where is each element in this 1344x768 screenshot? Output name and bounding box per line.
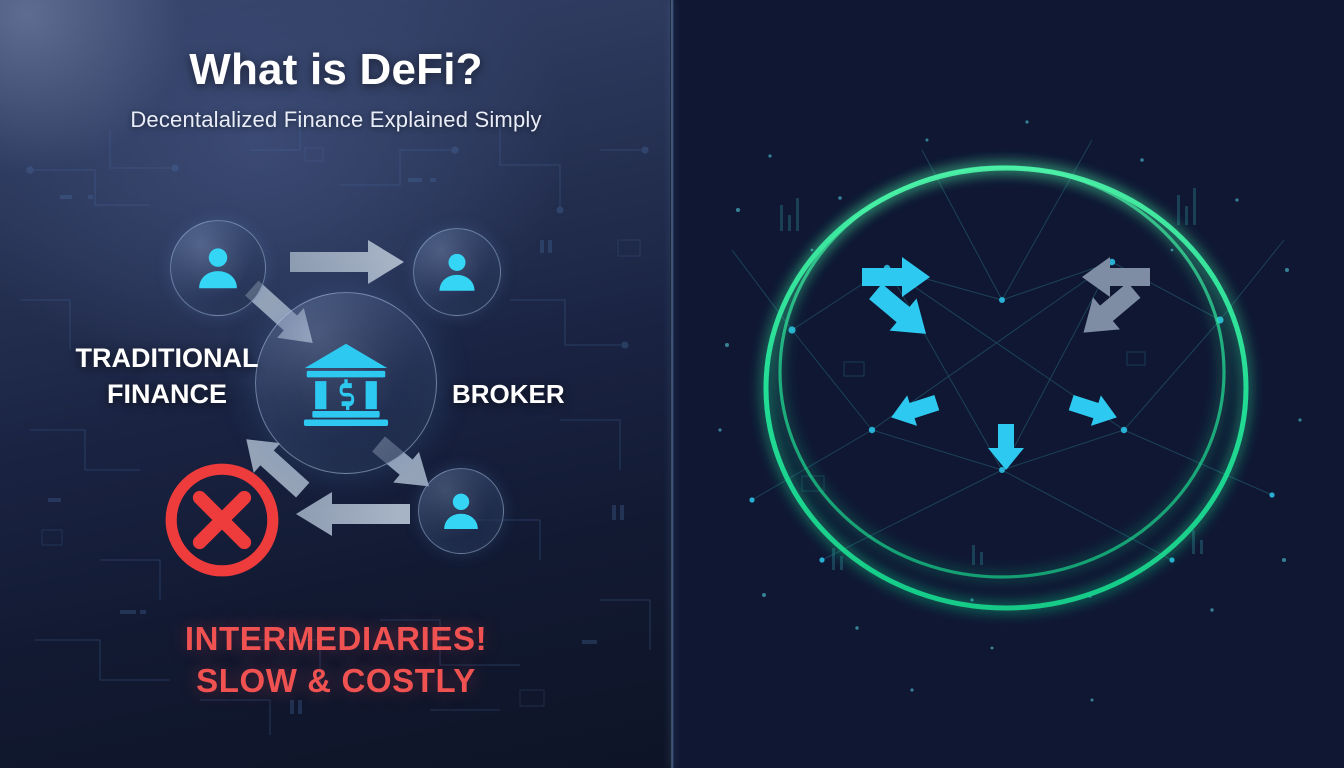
arrow-contract-to-yield	[1066, 387, 1122, 432]
traditional-callout-line1: INTERMEDIARIES!	[185, 620, 487, 657]
traditional-finance-label-line1: TRADITIONAL	[76, 343, 259, 373]
defi-infographic: What is DeFi? Decentalalized Finance Exp…	[0, 0, 1344, 768]
arrow-contract-to-lend	[886, 387, 942, 432]
arrow-left-user-to-contract	[862, 275, 940, 350]
traditional-finance-label: TRADITIONAL FINANCE	[52, 340, 282, 412]
bank-hub[interactable]	[255, 292, 437, 474]
traditional-finance-label-line2: FINANCE	[107, 379, 227, 409]
traditional-finance-panel: What is DeFi? Decentalalized Finance Exp…	[0, 0, 672, 768]
user-avatar-icon	[191, 241, 245, 295]
arrow-contract-to-trade	[988, 424, 1024, 470]
broker-label: BROKER	[452, 378, 565, 410]
user-avatar-icon	[432, 247, 482, 297]
traditional-callout: INTERMEDIARIES! SLOW & COSTLY	[0, 618, 672, 702]
defi-flow-arrows	[672, 0, 1344, 768]
traditional-callout-line2: SLOW & COSTLY	[0, 660, 672, 702]
defi-panel: DECENTEALIZED FINANCE (DeFi)	[672, 0, 1344, 768]
user-avatar-icon	[437, 487, 485, 535]
user-node-top-right[interactable]	[413, 228, 501, 316]
user-node-bottom-right[interactable]	[418, 468, 504, 554]
arrow-right-user-to-top-user	[1082, 257, 1150, 297]
arrow-user-to-denied	[296, 492, 410, 536]
bank-dollar-icon	[299, 340, 393, 426]
user-node-top-left[interactable]	[170, 220, 266, 316]
panel-divider	[670, 0, 674, 768]
no-intermediary-marker	[160, 458, 284, 582]
arrow-left-user-to-top-user	[862, 257, 930, 297]
arrow-user-to-broker	[290, 240, 404, 284]
red-x-circle-icon	[160, 458, 284, 582]
